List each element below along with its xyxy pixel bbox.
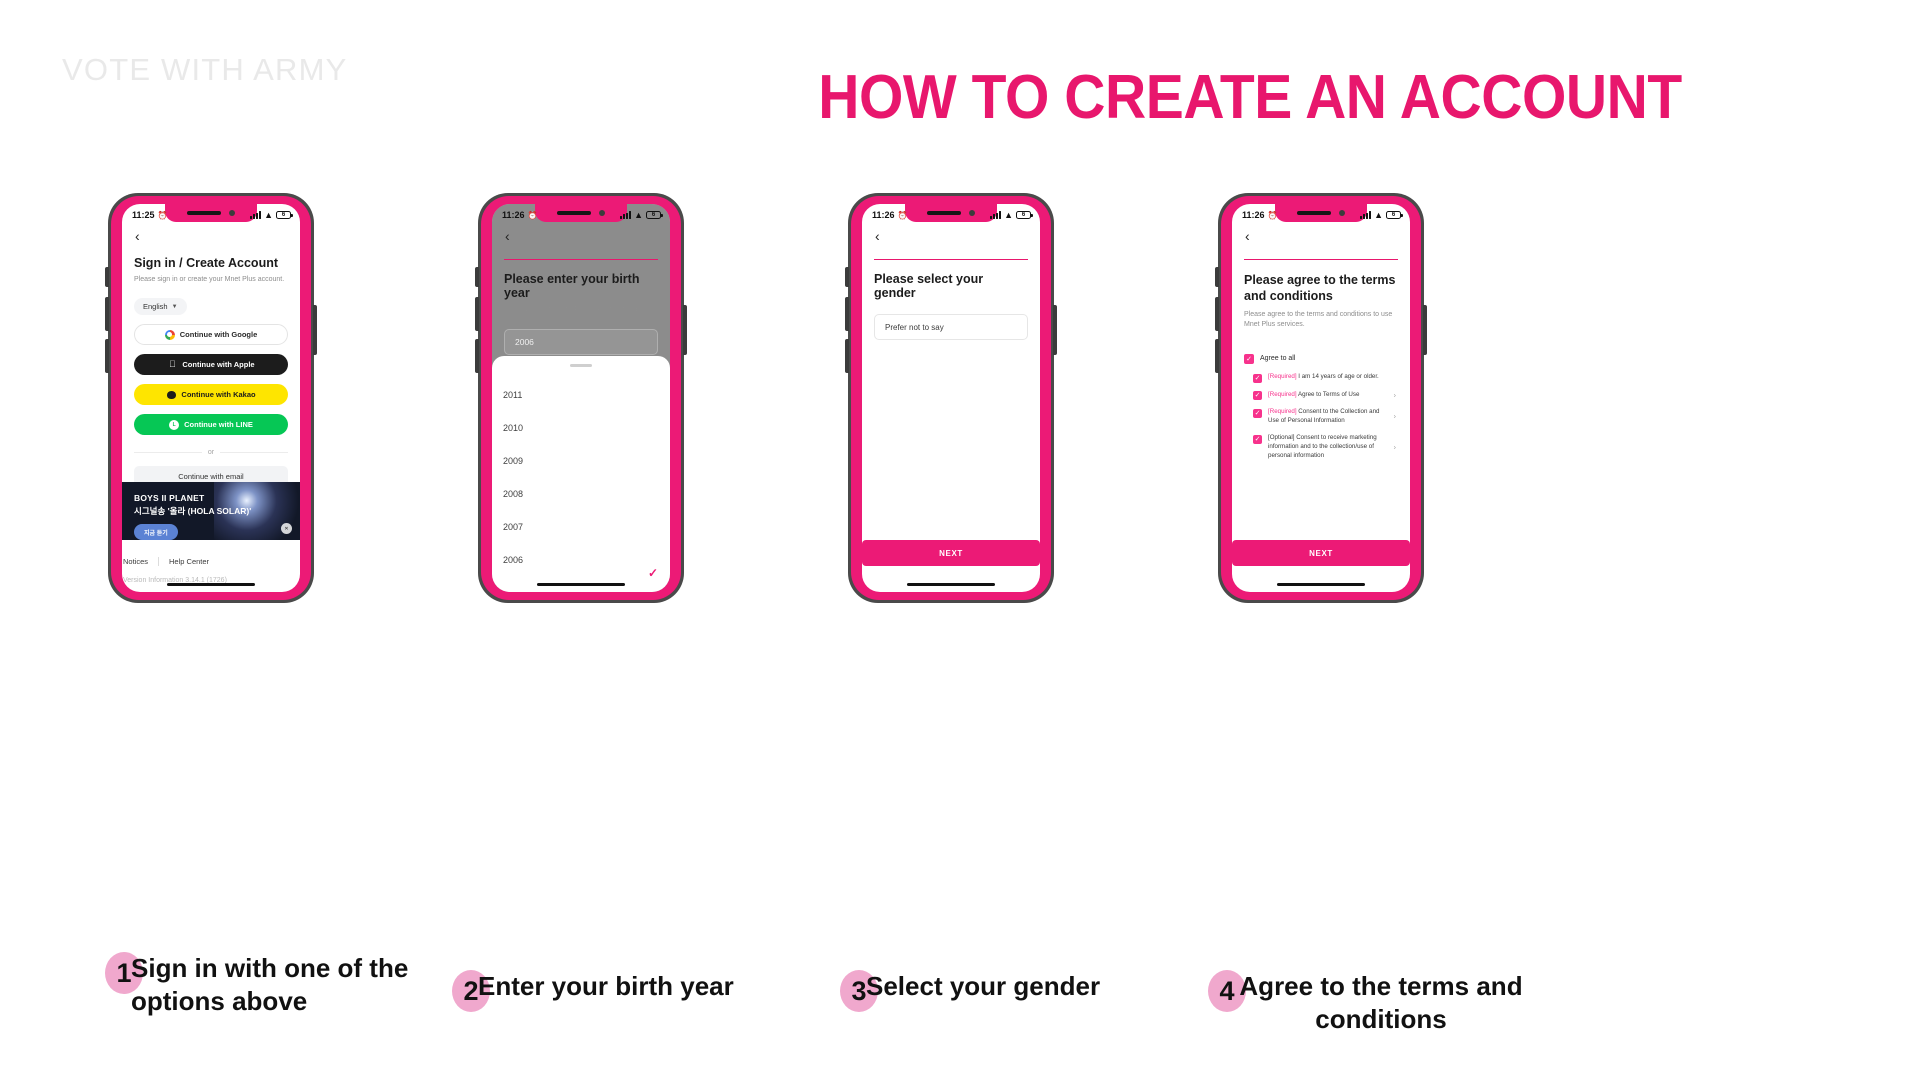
status-bar-1: 11:25 ⏰ ▲ 6 (122, 204, 300, 224)
terms-item-text: I am 14 years of age or older. (1297, 373, 1379, 380)
list-item[interactable]: 2006 (503, 544, 670, 577)
chevron-right-icon[interactable]: › (1394, 414, 1396, 421)
continue-with-line-label: Continue with LINE (184, 420, 253, 429)
volume-up-button[interactable] (105, 297, 109, 331)
divider-line-left (134, 452, 202, 453)
promo-text: BOYS II PLANET 시그널송 '올라 (HOLA SOLAR)' 지금… (134, 493, 251, 540)
volume-down-button[interactable] (105, 339, 109, 373)
cellular-signal-icon (1360, 211, 1371, 219)
alarm-icon: ⏰ (158, 211, 168, 220)
next-button[interactable]: NEXT (1232, 540, 1410, 566)
agree-to-all-row[interactable]: ✓ Agree to all (1244, 354, 1398, 365)
wifi-icon: ▲ (634, 210, 643, 220)
back-button[interactable]: ‹ (505, 229, 510, 243)
caption-text: Agree to the terms and conditions (1208, 970, 1528, 1037)
continue-with-kakao-button[interactable]: Continue with Kakao (134, 384, 288, 405)
caption-text: Sign in with one of the options above (105, 952, 435, 1019)
agree-to-all-label: Agree to all (1260, 354, 1307, 364)
terms-item-text: Agree to Terms of Use (1297, 391, 1360, 398)
promo-banner[interactable]: BOYS II PLANET 시그널송 '올라 (HOLA SOLAR)' 지금… (122, 482, 300, 540)
continue-with-email-label: Continue with email (178, 472, 243, 481)
promo-listen-button[interactable]: 지금 듣기 (134, 524, 178, 540)
screen-title: Please enter your birth year (504, 272, 658, 300)
battery-icon: 6 (276, 211, 291, 219)
screen-body-1: ‹ Sign in / Create Account Please sign i… (122, 224, 300, 592)
caption-2: 2 Enter your birth year (452, 970, 782, 1003)
volume-up-button[interactable] (845, 297, 849, 331)
screen-title: Please select your gender (874, 272, 1028, 300)
footer-divider (158, 557, 159, 566)
promo-line-2: 시그널송 '올라 (HOLA SOLAR)' (134, 505, 251, 517)
checkbox-checked-icon[interactable]: ✓ (1253, 391, 1262, 400)
terms-item-privacy[interactable]: ✓ [Required] Consent to the Collection a… (1244, 408, 1398, 426)
google-icon (165, 330, 175, 340)
screen-title: Sign in / Create Account (134, 256, 288, 270)
terms-item-marketing[interactable]: ✓ [Optional] Consent to receive marketin… (1244, 434, 1398, 461)
language-label: English (143, 302, 168, 311)
alarm-icon: ⏰ (528, 211, 538, 220)
power-button[interactable] (1053, 305, 1057, 355)
help-center-link[interactable]: Help Center (169, 557, 209, 566)
optional-tag: [Optional] (1268, 434, 1294, 441)
line-icon: L (169, 420, 179, 430)
caption-text: Enter your birth year (452, 970, 782, 1003)
year-option-list[interactable]: 2011 2010 2009 2008 2007 2006 (492, 379, 670, 577)
footer-links: Notices Help Center (122, 557, 300, 566)
status-time: 11:26 (872, 210, 895, 220)
required-tag: [Required] (1268, 408, 1297, 415)
volume-up-button[interactable] (475, 297, 479, 331)
screen-subtitle: Please sign in or create your Mnet Plus … (134, 275, 288, 285)
back-button[interactable]: ‹ (875, 229, 880, 243)
continue-with-google-label: Continue with Google (180, 330, 258, 339)
progress-bar (504, 259, 658, 260)
checkbox-checked-icon[interactable]: ✓ (1253, 374, 1262, 383)
wifi-icon: ▲ (1004, 210, 1013, 220)
battery-icon: 6 (646, 211, 661, 219)
notices-link[interactable]: Notices (123, 557, 148, 566)
apple-icon:  (167, 360, 177, 370)
screen-body-4: ‹ Please agree to the terms and conditio… (1232, 224, 1410, 592)
slide-root: VOTE WITH ARMY HOW TO CREATE AN ACCOUNT … (0, 0, 1920, 1080)
watermark-vote-with-army: VOTE WITH ARMY (62, 52, 347, 88)
promo-line-1: BOYS II PLANET (134, 493, 251, 503)
continue-with-line-button[interactable]: L Continue with LINE (134, 414, 288, 435)
phone-screen-2: 11:26 ⏰ ▲ 6 ‹ Please enter your birth ye… (492, 204, 670, 592)
phone-mockup-2: 11:26 ⏰ ▲ 6 ‹ Please enter your birth ye… (478, 193, 684, 603)
list-item[interactable]: 2010 (503, 412, 670, 445)
gender-selected-value: Prefer not to say (885, 323, 944, 332)
home-indicator (1277, 583, 1365, 587)
volume-down-button[interactable] (475, 339, 479, 373)
cellular-signal-icon (250, 211, 261, 219)
progress-bar (1244, 259, 1398, 260)
status-bar-4: 11:26 ⏰ ▲ 6 (1232, 204, 1410, 224)
progress-bar (874, 259, 1028, 260)
battery-icon: 6 (1016, 211, 1031, 219)
back-button[interactable]: ‹ (1245, 229, 1250, 243)
cellular-signal-icon (620, 211, 631, 219)
divider-line-right (220, 452, 288, 453)
close-icon[interactable]: ✕ (281, 523, 292, 534)
phone-screen-1: 11:25 ⏰ ▲ 6 ‹ Sign in / Create Account P… (122, 204, 300, 592)
list-item[interactable]: 2007 (503, 511, 670, 544)
continue-with-apple-button[interactable]:  Continue with Apple (134, 354, 288, 375)
checkbox-checked-icon[interactable]: ✓ (1253, 435, 1262, 444)
volume-down-button[interactable] (845, 339, 849, 373)
power-button[interactable] (1423, 305, 1427, 355)
gender-select[interactable]: Prefer not to say (874, 314, 1028, 340)
phone-mockup-3: 11:26 ⏰ ▲ 6 ‹ Please select your gender … (848, 193, 1054, 603)
wifi-icon: ▲ (264, 210, 273, 220)
status-time: 11:25 (132, 210, 155, 220)
terms-list: ✓ Agree to all ✓ [Required] I am 14 year… (1244, 354, 1398, 461)
volume-up-button[interactable] (1215, 297, 1219, 331)
status-bar-3: 11:26 ⏰ ▲ 6 (862, 204, 1040, 224)
mute-switch[interactable] (845, 267, 849, 287)
home-indicator (907, 583, 995, 587)
wifi-icon: ▲ (1374, 210, 1383, 220)
birth-year-input[interactable]: 2006 (504, 329, 658, 355)
mute-switch[interactable] (105, 267, 109, 287)
continue-with-apple-label: Continue with Apple (182, 360, 254, 369)
status-time: 11:26 (502, 210, 525, 220)
phone-screen-4: 11:26 ⏰ ▲ 6 ‹ Please agree to the terms … (1232, 204, 1410, 592)
kakao-icon (166, 390, 176, 400)
mute-switch[interactable] (1215, 267, 1219, 287)
continue-with-kakao-label: Continue with Kakao (181, 390, 255, 399)
alarm-icon: ⏰ (898, 211, 908, 220)
back-button[interactable]: ‹ (135, 229, 140, 243)
caption-text: Select your gender (840, 970, 1170, 1003)
caption-1: 1 Sign in with one of the options above (105, 952, 435, 1019)
power-button[interactable] (683, 305, 687, 355)
cellular-signal-icon (990, 211, 1001, 219)
screen-subtitle: You must be at least 14 years old to sig… (504, 305, 658, 315)
screen-subtitle: Please agree to the terms and conditions… (1244, 310, 1398, 330)
year-picker-sheet[interactable]: 2011 2010 2009 2008 2007 2006 ✓ (492, 356, 670, 592)
mute-switch[interactable] (475, 267, 479, 287)
required-tag: [Required] (1268, 391, 1297, 398)
status-time: 11:26 (1242, 210, 1265, 220)
screen-body-3: ‹ Please select your gender Prefer not t… (862, 224, 1040, 592)
terms-item-age[interactable]: ✓ [Required] I am 14 years of age or old… (1244, 373, 1398, 383)
list-item[interactable]: 2008 (503, 478, 670, 511)
phone-screen-3: 11:26 ⏰ ▲ 6 ‹ Please select your gender … (862, 204, 1040, 592)
chevron-down-icon: ▼ (172, 304, 178, 310)
list-item[interactable]: 2009 (503, 445, 670, 478)
divider-or: or (134, 449, 288, 456)
phone-mockup-1: 11:25 ⏰ ▲ 6 ‹ Sign in / Create Account P… (108, 193, 314, 603)
checkbox-checked-icon[interactable]: ✓ (1253, 409, 1262, 418)
volume-down-button[interactable] (1215, 339, 1219, 373)
birth-year-value: 2006 (515, 337, 534, 347)
chevron-right-icon[interactable]: › (1394, 444, 1396, 451)
home-indicator (167, 583, 255, 587)
alarm-icon: ⏰ (1268, 211, 1278, 220)
screen-title: Please agree to the terms and conditions (1244, 272, 1398, 305)
page-title: HOW TO CREATE AN ACCOUNT (689, 62, 1811, 133)
chevron-right-icon[interactable]: › (1394, 392, 1396, 399)
battery-icon: 6 (1386, 211, 1401, 219)
checkbox-checked-icon[interactable]: ✓ (1244, 354, 1254, 364)
continue-with-google-button[interactable]: Continue with Google (134, 324, 288, 345)
caption-4: 4 Agree to the terms and conditions (1208, 970, 1528, 1037)
check-icon[interactable]: ✓ (648, 566, 658, 580)
terms-item-tou[interactable]: ✓ [Required] Agree to Terms of Use › (1244, 391, 1398, 401)
required-tag: [Required] (1268, 373, 1297, 380)
divider-label: or (208, 449, 214, 456)
home-indicator (537, 583, 625, 587)
sheet-drag-handle[interactable] (570, 364, 592, 367)
language-selector[interactable]: English ▼ (134, 298, 187, 315)
list-item[interactable]: 2011 (503, 379, 670, 412)
status-bar-2: 11:26 ⏰ ▲ 6 (492, 204, 670, 224)
power-button[interactable] (313, 305, 317, 355)
next-button[interactable]: NEXT (862, 540, 1040, 566)
caption-3: 3 Select your gender (840, 970, 1170, 1003)
phone-mockup-4: 11:26 ⏰ ▲ 6 ‹ Please agree to the terms … (1218, 193, 1424, 603)
